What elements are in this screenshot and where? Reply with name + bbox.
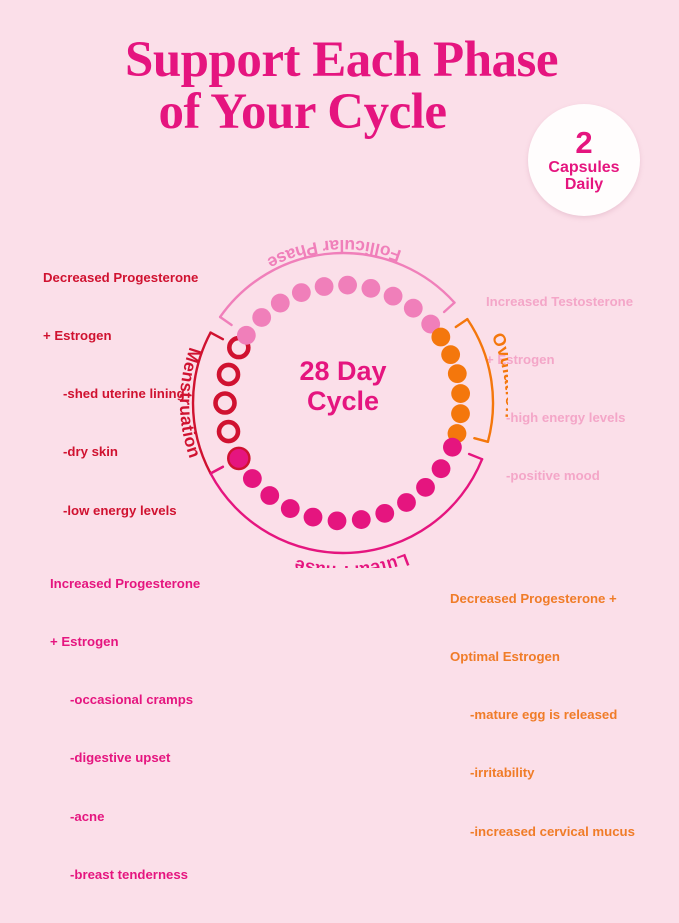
infographic-canvas: Support Each Phase of Your Cycle 2 Capsu… <box>0 0 679 679</box>
cycle-dot-luteal <box>375 504 394 523</box>
title-line-1: Support Each Phase <box>0 34 679 86</box>
note-follicular-head-1: Increased Testosterone <box>486 292 633 311</box>
cycle-diagram: MenstruationFollicular PhaseOvulationLut… <box>178 238 508 568</box>
cycle-dot-luteal <box>432 459 451 478</box>
capsules-daily-badge: 2 Capsules Daily <box>528 104 640 216</box>
cycle-dot-follicular <box>315 277 334 296</box>
cycle-dot-luteal <box>416 478 435 497</box>
phase-arc-tick-ovulation-1 <box>474 438 488 442</box>
note-ovulation-item-1: -irritability <box>450 763 635 782</box>
note-menstruation-item-1: -dry skin <box>43 442 198 461</box>
note-follicular-item-0: -high energy levels <box>486 408 633 427</box>
phase-arc-tick-luteal-1 <box>211 467 223 474</box>
cycle-dot-follicular <box>338 276 357 295</box>
cycle-dot-luteal <box>304 508 323 527</box>
note-follicular-item-1: -positive mood <box>486 466 633 485</box>
phase-group-follicular: Follicular Phase <box>220 238 454 345</box>
note-ovulation-item-2: -increased cervical mucus <box>450 822 635 841</box>
note-menstruation-head-1: Decreased Progesterone <box>43 268 198 287</box>
note-luteal-head-1: Increased Progesterone <box>50 574 200 593</box>
badge-line-2: Daily <box>565 176 603 193</box>
phase-arc-tick-follicular-0 <box>220 317 231 325</box>
cycle-dot-follicular <box>271 294 290 313</box>
phase-arc-tick-follicular-1 <box>444 303 454 312</box>
note-ovulation-head-2: Optimal Estrogen <box>450 647 635 666</box>
note-follicular: Increased Testosterone + Estrogen -high … <box>486 253 633 525</box>
cycle-dot-luteal <box>328 511 347 530</box>
cycle-dot-follicular <box>252 308 271 327</box>
cycle-dot-luteal <box>281 499 300 518</box>
cycle-dot-menstruation <box>219 422 238 441</box>
cycle-dot-menstruation <box>216 394 235 413</box>
note-ovulation-item-0: -mature egg is released <box>450 705 635 724</box>
cycle-dot-luteal <box>397 493 416 512</box>
phase-group-luteal: Luteal Phase <box>211 438 483 568</box>
phase-arc-tick-menstruation-1 <box>211 333 223 340</box>
note-luteal-head-2: + Estrogen <box>50 632 200 651</box>
note-luteal-item-0: -occasional cramps <box>50 690 200 709</box>
cycle-dot-ovulation <box>451 384 470 403</box>
cycle-dot-luteal <box>243 469 262 488</box>
note-luteal-item-2: -acne <box>50 807 200 826</box>
phase-label-menstruation: Menstruation <box>178 345 205 460</box>
cycle-dot-follicular <box>292 283 311 302</box>
note-luteal-item-3: -breast tenderness <box>50 865 200 884</box>
note-menstruation: Decreased Progesterone + Estrogen -shed … <box>43 229 198 559</box>
cycle-dot-ovulation <box>448 364 467 383</box>
cycle-dot-ovulation <box>451 404 470 423</box>
phase-arc-tick-ovulation-0 <box>456 319 468 327</box>
phase-group-ovulation: Ovulation <box>431 319 508 443</box>
cycle-dot-luteal <box>260 486 279 505</box>
cycle-dot-follicular <box>384 287 403 306</box>
note-luteal-item-1: -digestive upset <box>50 748 200 767</box>
phase-label-follicular: Follicular Phase <box>264 238 403 274</box>
note-menstruation-head-2: + Estrogen <box>43 326 198 345</box>
phase-arc-tick-luteal-0 <box>469 454 482 459</box>
note-ovulation: Decreased Progesterone + Optimal Estroge… <box>450 550 635 880</box>
cycle-dot-follicular <box>361 279 380 298</box>
cycle-dot-follicular <box>237 326 256 345</box>
note-menstruation-item-2: -low energy levels <box>43 501 198 520</box>
note-follicular-head-2: + Estrogen <box>486 350 633 369</box>
badge-number: 2 <box>575 127 592 158</box>
cycle-dot-luteal <box>443 438 462 457</box>
cycle-dot-luteal <box>229 449 248 468</box>
cycle-wheel-svg: MenstruationFollicular PhaseOvulationLut… <box>178 238 508 568</box>
badge-line-1: Capsules <box>548 159 619 176</box>
note-menstruation-item-0: -shed uterine lining <box>43 384 198 403</box>
cycle-dot-ovulation <box>441 345 460 364</box>
cycle-dot-menstruation <box>219 365 238 384</box>
cycle-dot-ovulation <box>431 328 450 347</box>
cycle-dot-luteal <box>352 510 371 529</box>
note-ovulation-head-1: Decreased Progesterone + <box>450 589 635 608</box>
note-luteal: Increased Progesterone + Estrogen -occas… <box>50 535 200 923</box>
cycle-dot-follicular <box>404 299 423 318</box>
